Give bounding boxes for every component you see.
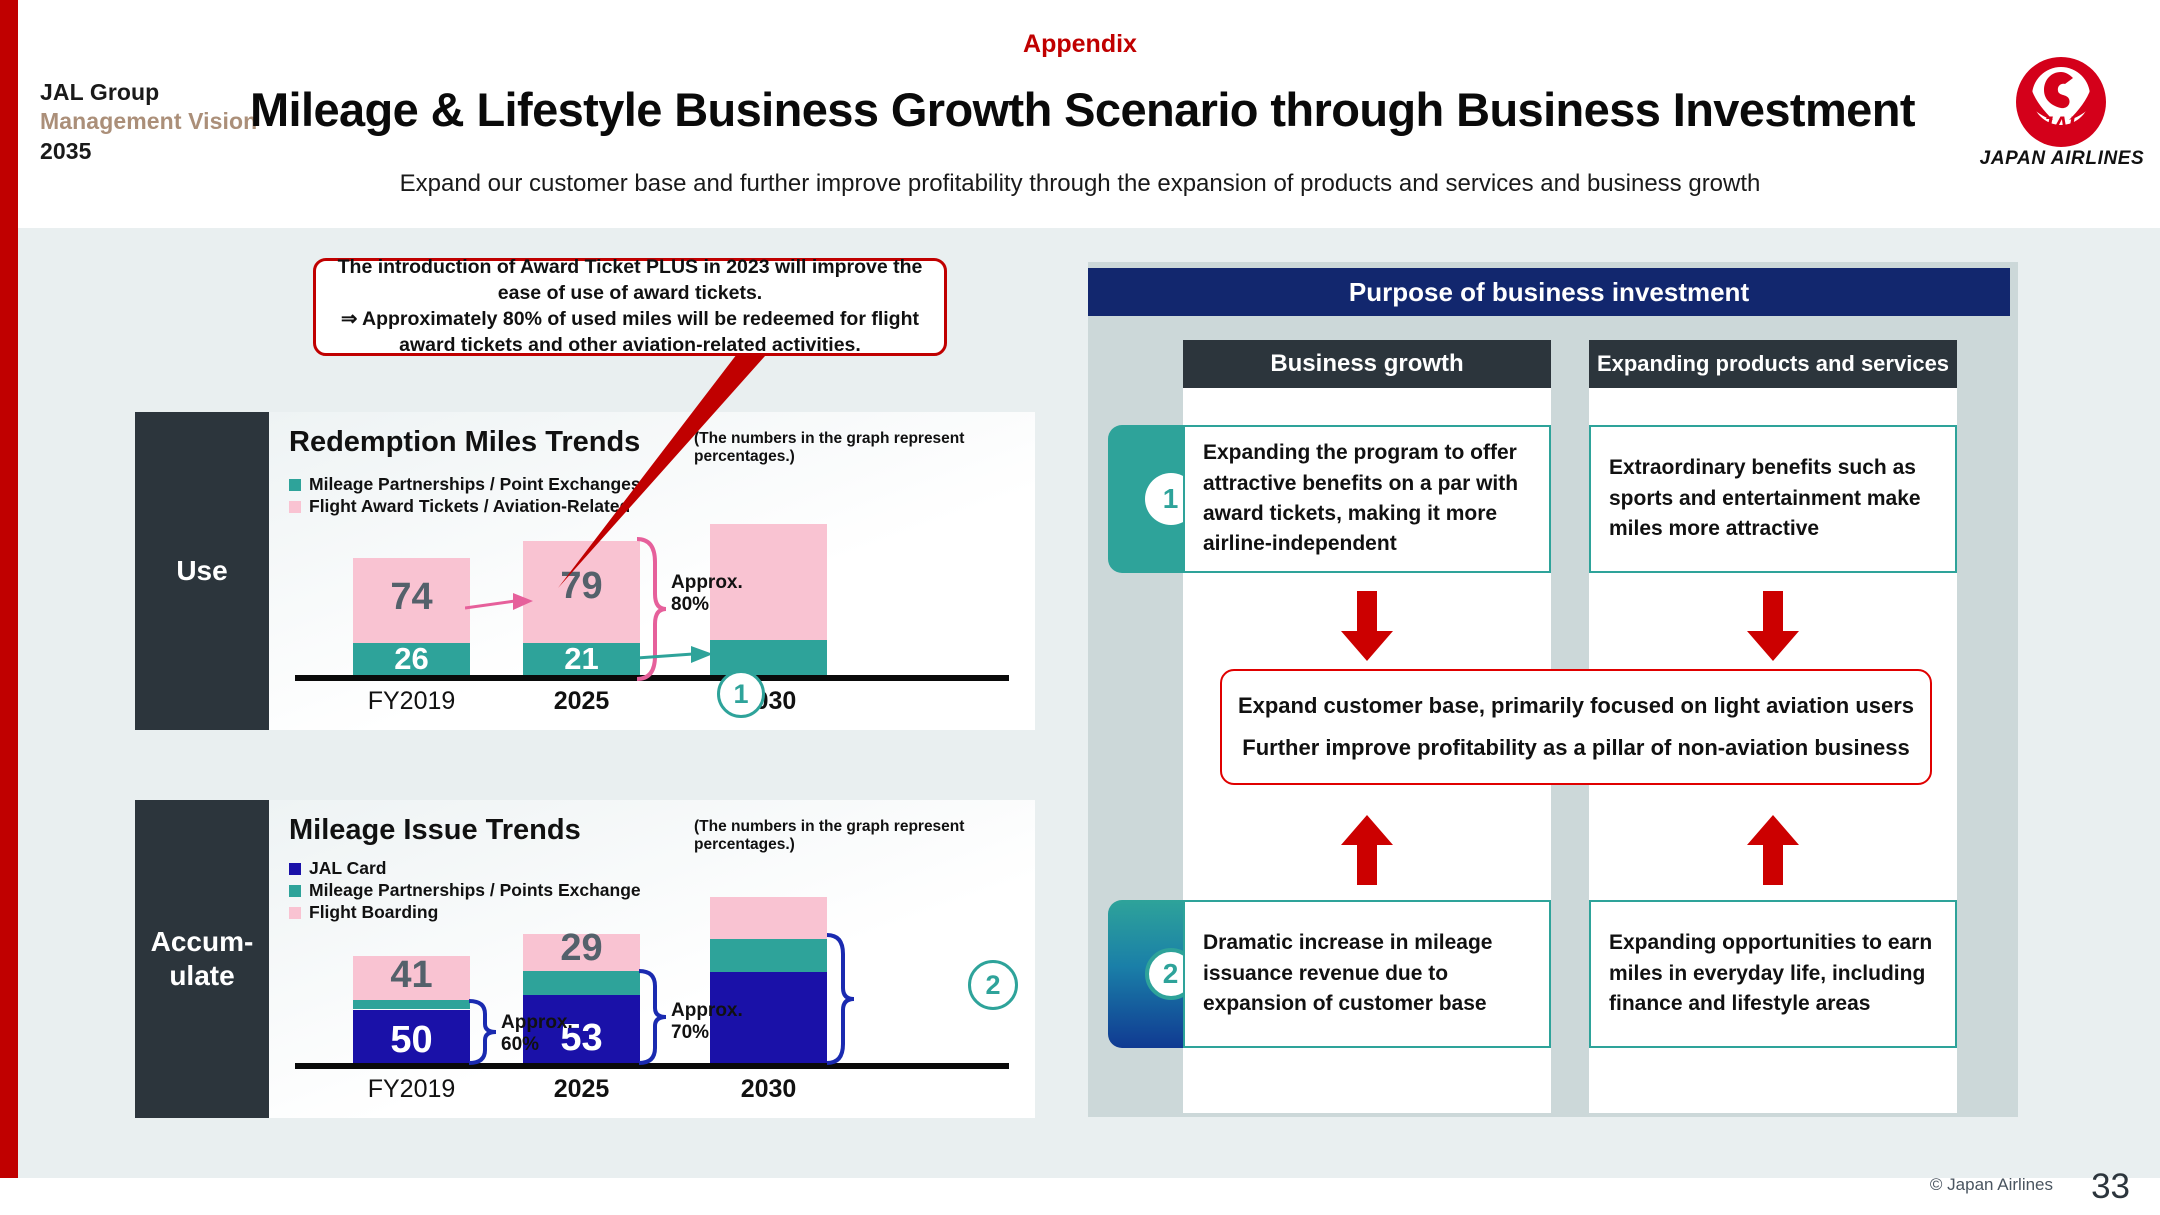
callout-line-3: ⇒ Approximately 80% of used miles will b… bbox=[341, 308, 919, 330]
center-outcome-line-2: Further improve profitability as a pilla… bbox=[1242, 727, 1909, 769]
bar-fy2019: 41 50 bbox=[353, 956, 470, 1063]
legend-swatch-pink-icon bbox=[289, 501, 301, 513]
chart-badge-2: 2 bbox=[968, 960, 1018, 1010]
textbox-expanding-products-top: Extraordinary benefits such as sports an… bbox=[1589, 425, 1957, 573]
brand-line-3: 2035 bbox=[40, 137, 290, 166]
column-header-expanding-products: Expanding products and services bbox=[1589, 340, 1957, 388]
page-subtitle: Expand our customer base and further imp… bbox=[250, 170, 1910, 198]
approx-60-line2: 60% bbox=[501, 1034, 539, 1055]
teal-growth-arrow-icon bbox=[637, 644, 715, 668]
approx-60-line1: Approx. bbox=[501, 1012, 573, 1033]
arrow-down-left-icon bbox=[1339, 591, 1395, 663]
legend-label: Mileage Partnerships / Points Exchange bbox=[309, 880, 641, 901]
approx-70-label: Approx. 70% bbox=[671, 1000, 743, 1045]
arrow-up-left-icon bbox=[1339, 813, 1395, 885]
chart-title-issue: Mileage Issue Trends bbox=[289, 814, 581, 847]
arrow-down-right-icon bbox=[1745, 591, 1801, 663]
tick-2030: 2030 bbox=[710, 1075, 827, 1104]
tick-fy2019: FY2019 bbox=[353, 1075, 470, 1104]
approx-70-line2: 70% bbox=[671, 1022, 709, 1043]
approx-70-line1: Approx. bbox=[671, 1000, 743, 1021]
page-title: Mileage & Lifestyle Business Growth Scen… bbox=[250, 82, 1910, 137]
blue-brace-2030-icon bbox=[825, 932, 857, 1066]
footer-copyright: © Japan Airlines bbox=[1930, 1175, 2053, 1195]
legend-swatch-blue-icon bbox=[289, 863, 301, 875]
textbox-business-growth-top: Expanding the program to offer attractiv… bbox=[1183, 425, 1551, 573]
bar-value-teal: 26 bbox=[353, 641, 470, 677]
legend-swatch-teal-icon bbox=[289, 479, 301, 491]
textbox-business-growth-bottom-text: Dramatic increase in mileage issuance re… bbox=[1185, 928, 1549, 1019]
bar-segment-teal bbox=[353, 1000, 470, 1010]
slide-root: JAL Group Management Vision 2035 Appendi… bbox=[0, 0, 2160, 1215]
textbox-business-growth-bottom: Dramatic increase in mileage issuance re… bbox=[1183, 900, 1551, 1048]
panel-label-accumulate-text: Accum- ulate bbox=[151, 925, 254, 992]
bar-value-pink: 41 bbox=[353, 954, 470, 997]
award-ticket-callout: The introduction of Award Ticket PLUS in… bbox=[313, 258, 947, 356]
bar-value-pink: 29 bbox=[523, 927, 640, 970]
legend-swatch-teal-icon bbox=[289, 885, 301, 897]
legend-swatch-pink-icon bbox=[289, 907, 301, 919]
chart-card-issue: Mileage Issue Trends (The numbers in the… bbox=[269, 800, 1035, 1118]
right-panel-header: Purpose of business investment bbox=[1088, 268, 2010, 316]
tick-2025: 2025 bbox=[523, 687, 640, 716]
panel-label-use-text: Use bbox=[176, 554, 227, 588]
column-header-business-growth: Business growth bbox=[1183, 340, 1551, 388]
svg-text:JAL: JAL bbox=[2040, 112, 2082, 137]
legend-item: Mileage Partnerships / Points Exchange bbox=[289, 880, 641, 901]
center-outcome-box: Expand customer base, primarily focused … bbox=[1220, 669, 1932, 785]
pink-growth-arrow-icon bbox=[465, 588, 535, 614]
jal-wordmark: JAPAN AIRLINES bbox=[1974, 148, 2150, 170]
legend-item: Flight Boarding bbox=[289, 902, 641, 923]
bar-segment-pink bbox=[710, 897, 827, 939]
appendix-label: Appendix bbox=[0, 30, 2160, 59]
callout-pointer-tail bbox=[520, 350, 820, 590]
panel-label-accumulate-line1: Accum- bbox=[151, 926, 254, 957]
panel-label-accumulate: Accum- ulate bbox=[135, 800, 269, 1118]
callout-line-2: ease of use of award tickets. bbox=[498, 282, 762, 304]
arrow-up-right-icon bbox=[1745, 813, 1801, 885]
panel-label-accumulate-line2: ulate bbox=[169, 960, 234, 991]
textbox-expanding-products-bottom: Expanding opportunities to earn miles in… bbox=[1589, 900, 1957, 1048]
jal-crane-logo-icon: JAL bbox=[1995, 56, 2127, 148]
bar-segment-teal bbox=[523, 971, 640, 994]
panel-label-use: Use bbox=[135, 412, 269, 730]
callout-line-4: award tickets and other aviation-related… bbox=[399, 334, 861, 356]
center-outcome-line-1: Expand customer base, primarily focused … bbox=[1238, 685, 1914, 727]
callout-line-1: The introduction of Award Ticket PLUS in… bbox=[338, 256, 923, 278]
legend-label: JAL Card bbox=[309, 858, 386, 879]
textbox-business-growth-top-text: Expanding the program to offer attractiv… bbox=[1185, 438, 1549, 560]
tick-fy2019: FY2019 bbox=[353, 687, 470, 716]
bar-value-teal: 21 bbox=[523, 641, 640, 677]
body-red-accent-bar bbox=[0, 228, 18, 1178]
approx-60-label: Approx. 60% bbox=[501, 1012, 573, 1057]
tick-2025: 2025 bbox=[523, 1075, 640, 1104]
chart-note-issue: (The numbers in the graph represent perc… bbox=[694, 818, 1035, 854]
bar-fy2019: 74 26 bbox=[353, 558, 470, 675]
footer-page-number: 33 bbox=[2091, 1167, 2130, 1207]
blue-brace-60-icon bbox=[467, 998, 499, 1066]
bar-value-blue: 50 bbox=[353, 1019, 470, 1062]
legend-item: JAL Card bbox=[289, 858, 641, 879]
blue-brace-70-icon bbox=[637, 968, 669, 1066]
textbox-expanding-products-top-text: Extraordinary benefits such as sports an… bbox=[1591, 453, 1955, 544]
bar-segment-teal bbox=[710, 640, 827, 675]
bar-value-pink: 74 bbox=[353, 576, 470, 619]
chart-legend-issue: JAL Card Mileage Partnerships / Points E… bbox=[289, 858, 641, 924]
bar-segment-teal bbox=[710, 939, 827, 972]
legend-label: Flight Boarding bbox=[309, 902, 438, 923]
chart-badge-1: 1 bbox=[717, 670, 765, 718]
textbox-expanding-products-bottom-text: Expanding opportunities to earn miles in… bbox=[1591, 928, 1955, 1019]
approx-80-line2: 80% bbox=[671, 594, 709, 615]
